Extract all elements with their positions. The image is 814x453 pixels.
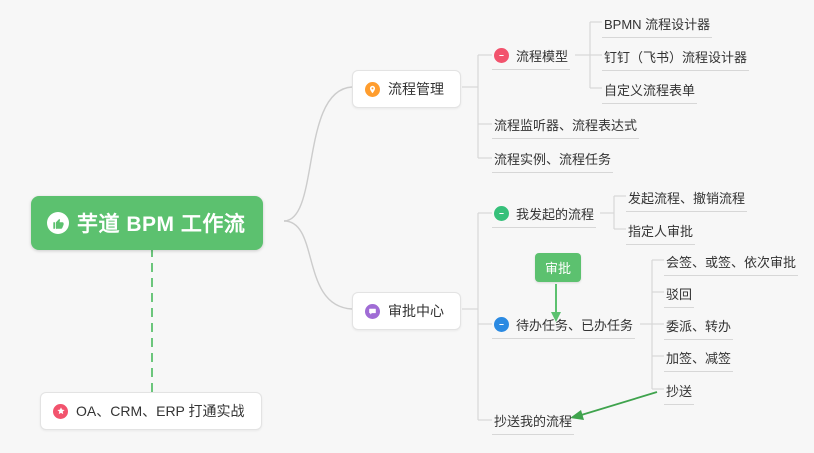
root-label: 芋道 BPM 工作流 [77,208,245,238]
branch-approval-center[interactable]: 审批中心 [352,292,461,330]
root-node[interactable]: 芋道 BPM 工作流 [31,196,263,250]
node-label: 抄送 [666,381,692,400]
node-todo-done-tasks[interactable]: 待办任务、已办任务 [492,312,635,339]
node-label: 抄送我的流程 [494,411,572,430]
node-label: 我发起的流程 [516,204,594,223]
node-label: 待办任务、已办任务 [516,315,633,334]
node-custom-form[interactable]: 自定义流程表单 [602,77,697,104]
node-add-remove-sign[interactable]: 加签、减签 [664,345,733,372]
minus-circle-icon [494,206,509,221]
message-icon [365,304,380,319]
branch-process-management[interactable]: 流程管理 [352,70,461,108]
footnote-label: OA、CRM、ERP 打通实战 [76,401,245,421]
minus-circle-icon [494,48,509,63]
node-bpmn-designer[interactable]: BPMN 流程设计器 [602,11,712,38]
node-label: 流程模型 [516,46,568,65]
node-assign-approver[interactable]: 指定人审批 [626,218,695,245]
mindmap-canvas: 芋道 BPM 工作流 流程管理 流程模型 BPMN 流程设计器 钉钉（飞书）流程… [0,0,814,453]
tag-label: 审批 [545,261,571,276]
node-listener-expression[interactable]: 流程监听器、流程表达式 [492,112,639,139]
node-dingtalk-designer[interactable]: 钉钉（飞书）流程设计器 [602,44,749,71]
footnote-card[interactable]: OA、CRM、ERP 打通实战 [40,392,262,430]
node-instance-task[interactable]: 流程实例、流程任务 [492,146,613,173]
node-label: 自定义流程表单 [604,80,695,99]
node-label: 会签、或签、依次审批 [666,252,796,271]
node-label: 驳回 [666,284,692,303]
node-label: 钉钉（飞书）流程设计器 [604,47,747,66]
location-pin-icon [365,82,380,97]
node-label: 流程监听器、流程表达式 [494,115,637,134]
thumbs-up-icon [47,212,69,234]
node-cc[interactable]: 抄送 [664,378,694,405]
branch-label: 流程管理 [388,79,444,99]
star-icon [53,404,68,419]
node-my-started-processes[interactable]: 我发起的流程 [492,201,596,228]
minus-circle-icon [494,317,509,332]
node-label: 加签、减签 [666,348,731,367]
node-reject[interactable]: 驳回 [664,281,694,308]
node-label: 委派、转办 [666,316,731,335]
node-label: 流程实例、流程任务 [494,149,611,168]
node-start-cancel-process[interactable]: 发起流程、撤销流程 [626,185,747,212]
node-label: 发起流程、撤销流程 [628,188,745,207]
node-process-model[interactable]: 流程模型 [492,43,570,70]
approval-tag[interactable]: 审批 [535,253,581,282]
node-delegate-transfer[interactable]: 委派、转办 [664,313,733,340]
branch-label: 审批中心 [388,301,444,321]
node-label: 指定人审批 [628,221,693,240]
node-label: BPMN 流程设计器 [604,14,710,33]
node-cc-to-me[interactable]: 抄送我的流程 [492,408,574,435]
node-countersign[interactable]: 会签、或签、依次审批 [664,249,798,276]
